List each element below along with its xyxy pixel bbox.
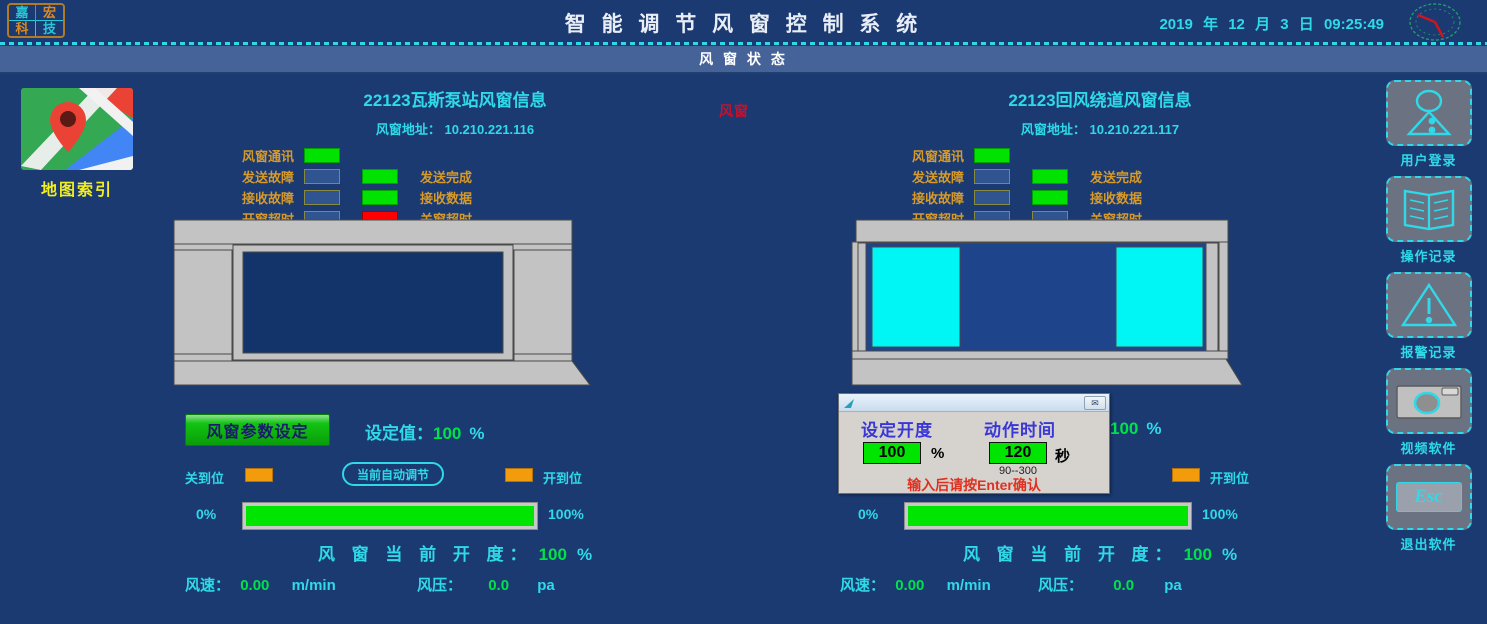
wind-pressure-label: 风压： bbox=[1038, 577, 1083, 594]
current-opening-unit: % bbox=[577, 545, 592, 564]
io-lamp-secondary bbox=[362, 169, 398, 184]
action-time-input[interactable]: 120 bbox=[989, 442, 1047, 464]
opening-unit: % bbox=[931, 445, 944, 462]
setpoint-value: 100 bbox=[433, 424, 461, 443]
air-window-graphic-left bbox=[173, 219, 591, 387]
video-software-button[interactable] bbox=[1386, 368, 1472, 434]
current-opening-label: 风 窗 当 前 开 度： bbox=[318, 545, 533, 564]
operation-records-button[interactable] bbox=[1386, 176, 1472, 242]
map-index-label: 地图索引 bbox=[21, 176, 133, 200]
io-lamp bbox=[304, 190, 340, 205]
wind-pressure-unit: pa bbox=[1164, 577, 1182, 594]
closed-position-lamp bbox=[245, 468, 273, 482]
dialog-body: 设定开度 动作时间 100 % 120 秒 90--300 输入后请按Enter… bbox=[839, 412, 1109, 494]
io-label: 接收故障 bbox=[896, 188, 964, 207]
sidebar-item-alarm-records[interactable]: 报警记录 bbox=[1370, 272, 1487, 361]
open-position-label: 开到位 bbox=[543, 468, 582, 487]
opening-progress-fill bbox=[908, 506, 1188, 526]
io-label: 发送故障 bbox=[896, 167, 964, 186]
open-position-lamp bbox=[1172, 468, 1200, 482]
bar-max-label: 100% bbox=[548, 506, 584, 522]
bar-min-label: 0% bbox=[196, 506, 216, 522]
sidebar-label: 用户登录 bbox=[1370, 150, 1487, 169]
wind-pressure-measure: 风压： 0.0 pa bbox=[417, 574, 555, 595]
esc-key-icon: Esc bbox=[1396, 482, 1462, 512]
open-position-label: 开到位 bbox=[1210, 468, 1249, 487]
io-row: 接收故障 接收数据 bbox=[896, 187, 1380, 208]
right-sidebar: 用户登录 操作记录 bbox=[1370, 80, 1487, 560]
setpoint-value: 100 bbox=[1110, 419, 1138, 438]
address-label: 风窗地址： bbox=[1021, 122, 1086, 137]
io-lamp bbox=[974, 169, 1010, 184]
wind-speed-measure: 风速： 0.00 m/min bbox=[840, 574, 991, 595]
map-index-button[interactable]: 地图索引 bbox=[21, 88, 133, 200]
dialog-hint: 输入后请按Enter确认 bbox=[839, 475, 1109, 495]
io-lamp-secondary bbox=[362, 190, 398, 205]
close-icon[interactable]: ✉ bbox=[1084, 396, 1106, 410]
dialog-time-label: 动作时间 bbox=[984, 416, 1056, 441]
date-day-unit: 日 bbox=[1299, 16, 1314, 33]
user-login-icon bbox=[1399, 88, 1459, 138]
panel-title: 22123回风绕道风窗信息 bbox=[820, 86, 1380, 111]
io-status-list: 风窗通讯 发送故障 发送完成 接收故障 接收数据 开窗超时 关窗超时 bbox=[820, 145, 1380, 229]
measurements-row: 风速： 0.00 m/min 风压： 0.0 pa bbox=[820, 574, 1380, 598]
dialog-app-icon bbox=[843, 397, 856, 409]
panel-address: 风窗地址： 10.210.221.116 bbox=[150, 119, 760, 138]
io-row: 风窗通讯 bbox=[896, 145, 1380, 166]
dialog-title-bar[interactable]: ✉ bbox=[839, 394, 1109, 412]
wind-speed-unit: m/min bbox=[292, 577, 336, 594]
io-row: 发送故障 发送完成 bbox=[226, 166, 760, 187]
wind-pressure-unit: pa bbox=[537, 577, 555, 594]
status-bar: 风 窗 状 态 bbox=[0, 46, 1487, 74]
date-month: 12 bbox=[1228, 16, 1245, 33]
io-row: 发送故障 发送完成 bbox=[896, 166, 1380, 187]
current-opening-label: 风 窗 当 前 开 度： bbox=[963, 545, 1178, 564]
io-label-secondary: 接收数据 bbox=[420, 188, 472, 207]
io-lamp bbox=[304, 169, 340, 184]
current-opening-display: 风 窗 当 前 开 度：100% bbox=[150, 540, 760, 565]
exit-software-button[interactable]: Esc bbox=[1386, 464, 1472, 530]
io-label-secondary: 发送完成 bbox=[1090, 167, 1142, 186]
setpoint-unit: % bbox=[469, 424, 484, 443]
address-value: 10.210.221.116 bbox=[444, 122, 534, 137]
address-value: 10.210.221.117 bbox=[1089, 122, 1179, 137]
setpoint-label: 设定值： bbox=[365, 424, 433, 443]
io-status-list: 风窗通讯 发送故障 发送完成 接收故障 接收数据 开窗超时 关窗超时 bbox=[150, 145, 760, 229]
bar-max-label: 100% bbox=[1202, 506, 1238, 522]
book-records-icon bbox=[1399, 185, 1459, 233]
sidebar-label: 退出软件 bbox=[1370, 534, 1487, 553]
io-label-secondary: 发送完成 bbox=[420, 167, 472, 186]
io-lamp-secondary bbox=[1032, 190, 1068, 205]
panel-gas-pump-station: 22123瓦斯泵站风窗信息 风窗地址： 10.210.221.116 风窗通讯 … bbox=[150, 86, 760, 229]
date-year: 2019 bbox=[1159, 16, 1192, 33]
wind-speed-label: 风速： bbox=[185, 577, 230, 594]
opening-progress-fill bbox=[246, 506, 534, 526]
auto-mode-badge: 当前自动调节 bbox=[342, 462, 444, 486]
alarm-records-button[interactable] bbox=[1386, 272, 1472, 338]
opening-bar-row: 0% 100% bbox=[820, 502, 1380, 530]
status-bar-label: 风 窗 状 态 bbox=[699, 49, 788, 69]
position-indicator-row: 关到位 当前自动调节 开到位 bbox=[150, 466, 760, 486]
sidebar-label: 操作记录 bbox=[1370, 246, 1487, 265]
io-row: 接收故障 接收数据 bbox=[226, 187, 760, 208]
opening-input[interactable]: 100 bbox=[863, 442, 921, 464]
application-root: 嘉 宏 科 技 智 能 调 节 风 窗 控 制 系 统 2019 年 12 月 … bbox=[0, 0, 1487, 624]
current-opening-value: 100 bbox=[539, 545, 567, 564]
wind-speed-measure: 风速： 0.00 m/min bbox=[185, 574, 336, 595]
opening-progress-bar[interactable] bbox=[904, 502, 1192, 530]
warning-triangle-icon bbox=[1399, 281, 1459, 329]
panel-return-air-bypass: 22123回风绕道风窗信息 风窗地址： 10.210.221.117 风窗通讯 … bbox=[820, 86, 1380, 229]
closed-position-label: 关到位 bbox=[185, 468, 224, 487]
wind-pressure-value: 0.0 bbox=[488, 577, 509, 594]
io-lamp bbox=[974, 148, 1010, 163]
map-pin-icon bbox=[21, 88, 133, 170]
io-label-secondary: 接收数据 bbox=[1090, 188, 1142, 207]
wind-speed-unit: m/min bbox=[947, 577, 991, 594]
io-lamp bbox=[974, 190, 1010, 205]
camera-icon bbox=[1394, 379, 1464, 423]
open-position-lamp bbox=[505, 468, 533, 482]
wind-speed-value: 0.00 bbox=[895, 577, 924, 594]
date-month-unit: 月 bbox=[1255, 16, 1270, 33]
current-opening-display: 风 窗 当 前 开 度：100% bbox=[820, 540, 1380, 565]
parameter-settings-dialog: ✉ 设定开度 动作时间 100 % 120 秒 90--300 输入后请按Ent… bbox=[838, 393, 1110, 494]
current-opening-value: 100 bbox=[1184, 545, 1212, 564]
io-row: 风窗通讯 bbox=[226, 145, 760, 166]
panel-title: 22123瓦斯泵站风窗信息 bbox=[150, 86, 760, 111]
current-opening-unit: % bbox=[1222, 545, 1237, 564]
panel-address: 风窗地址： 10.210.221.117 bbox=[820, 119, 1380, 138]
sidebar-label: 视频软件 bbox=[1370, 438, 1487, 457]
io-label: 发送故障 bbox=[226, 167, 294, 186]
sidebar-item-user-login[interactable]: 用户登录 bbox=[1370, 80, 1487, 169]
sidebar-item-operation-records[interactable]: 操作记录 bbox=[1370, 176, 1487, 265]
setpoint-display: 设定值：100% bbox=[365, 419, 485, 444]
io-lamp bbox=[304, 148, 340, 163]
app-header: 嘉 宏 科 技 智 能 调 节 风 窗 控 制 系 统 2019 年 12 月 … bbox=[0, 0, 1487, 44]
opening-progress-bar[interactable] bbox=[242, 502, 538, 530]
setpoint-display: 100% bbox=[1110, 419, 1162, 439]
io-lamp-secondary bbox=[1032, 169, 1068, 184]
bar-min-label: 0% bbox=[858, 506, 878, 522]
clock-time: 09:25:49 bbox=[1324, 16, 1384, 33]
action-time-unit: 秒 bbox=[1055, 445, 1070, 466]
wind-speed-value: 0.00 bbox=[240, 577, 269, 594]
param-settings-button[interactable]: 风窗参数设定 bbox=[185, 414, 330, 446]
io-label: 风窗通讯 bbox=[896, 146, 964, 165]
air-window-graphic-right bbox=[848, 219, 1244, 387]
wind-speed-label: 风速： bbox=[840, 577, 885, 594]
dialog-opening-label: 设定开度 bbox=[861, 416, 933, 441]
io-label: 风窗通讯 bbox=[226, 146, 294, 165]
sidebar-item-exit-software[interactable]: Esc 退出软件 bbox=[1370, 464, 1487, 553]
address-label: 风窗地址： bbox=[376, 122, 441, 137]
sidebar-label: 报警记录 bbox=[1370, 342, 1487, 361]
sidebar-item-video-software[interactable]: 视频软件 bbox=[1370, 368, 1487, 457]
date-year-unit: 年 bbox=[1203, 16, 1218, 33]
date-day: 3 bbox=[1280, 16, 1288, 33]
wind-pressure-label: 风压： bbox=[417, 577, 462, 594]
opening-bar-row: 0% 100% bbox=[150, 502, 760, 530]
datetime-display: 2019 年 12 月 3 日 09:25:49 bbox=[1156, 13, 1387, 34]
user-login-button[interactable] bbox=[1386, 80, 1472, 146]
wind-pressure-measure: 风压： 0.0 pa bbox=[1038, 574, 1182, 595]
header-divider bbox=[0, 42, 1487, 45]
clock-gauge-icon bbox=[1406, 2, 1464, 42]
io-label: 接收故障 bbox=[226, 188, 294, 207]
measurements-row: 风速： 0.00 m/min 风压： 0.0 pa bbox=[150, 574, 760, 598]
setpoint-unit: % bbox=[1146, 419, 1161, 438]
wind-pressure-value: 0.0 bbox=[1113, 577, 1134, 594]
